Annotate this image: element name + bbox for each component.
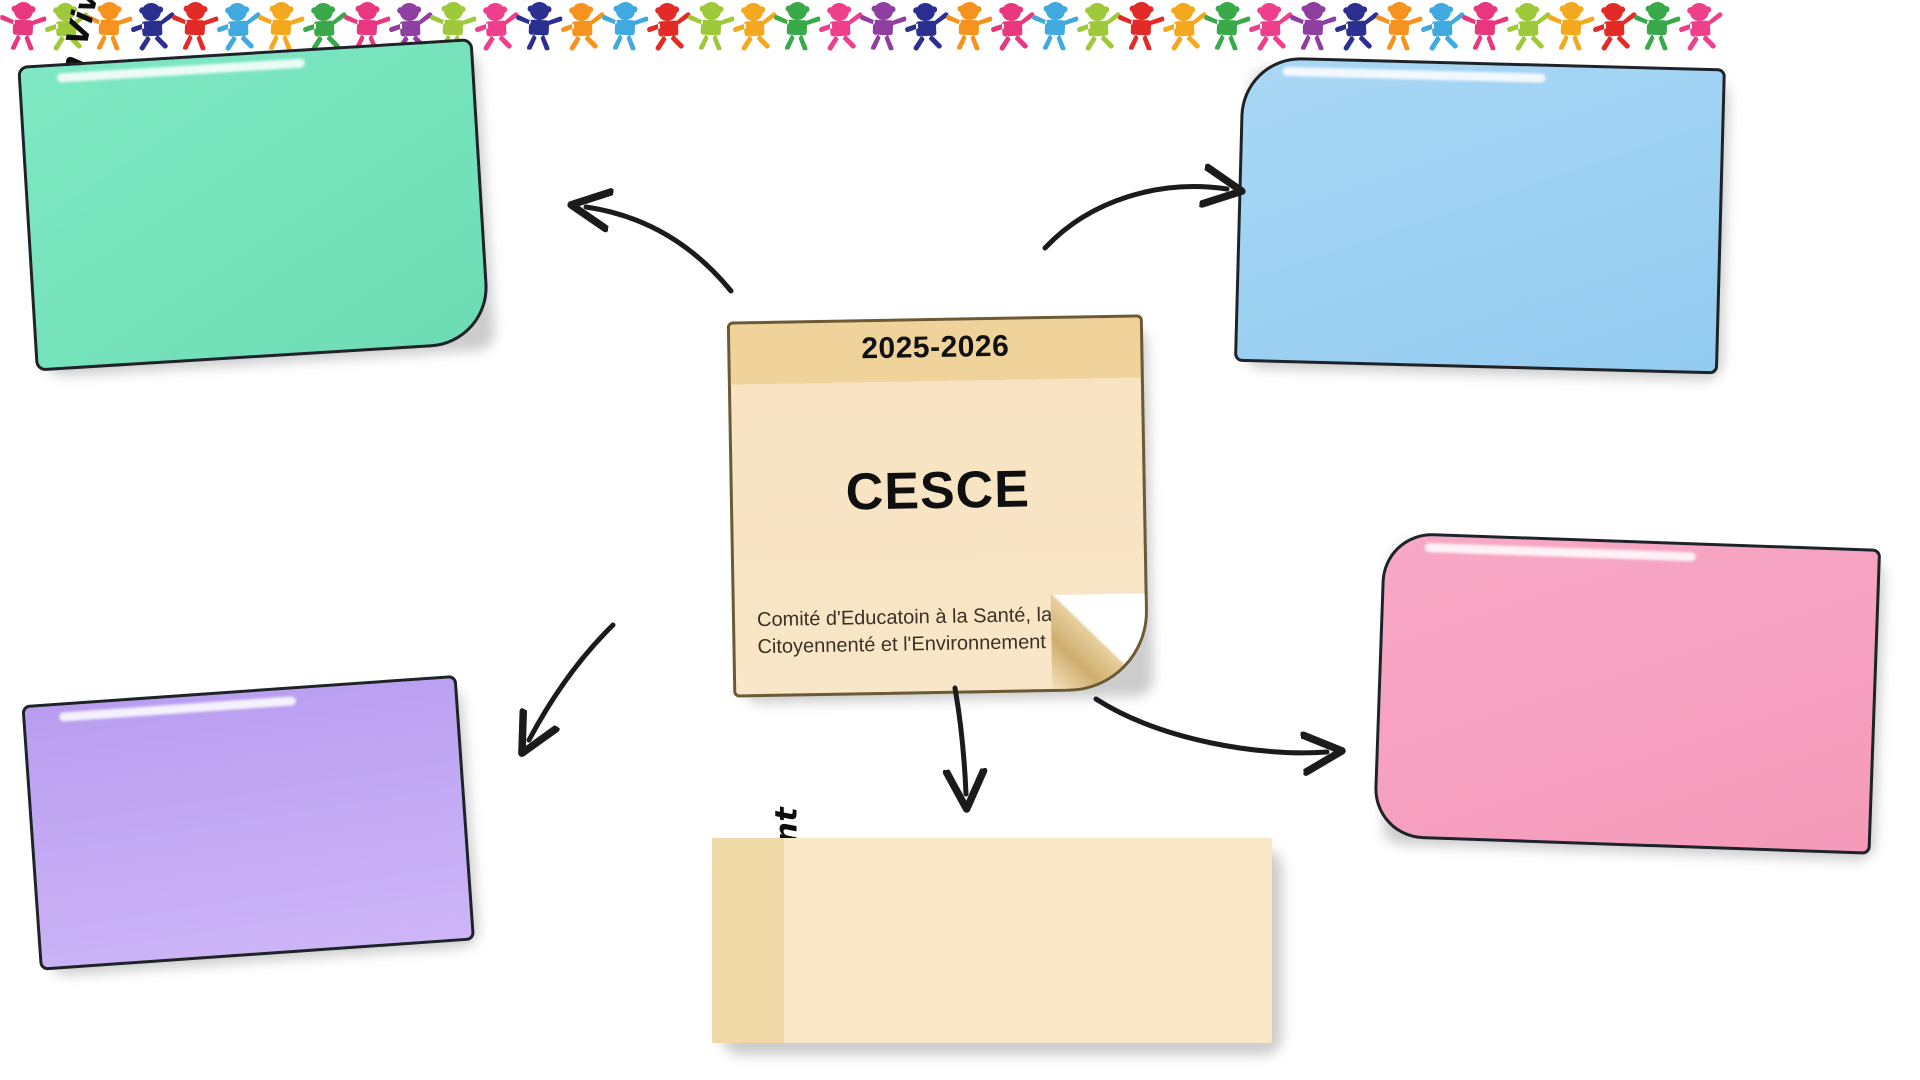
dancing-child-figure — [300, 0, 349, 52]
card-engagement[interactable]: Engagement ❖ Être solidaire ❖ Participer… — [712, 838, 1272, 1043]
dancing-child-figure — [558, 0, 607, 52]
dancing-child-figure — [1031, 0, 1079, 51]
card-bien-vivre-ensemble[interactable]: Bien Vivre ensemble ❖ Protéger ❖ Dévelop… — [17, 39, 484, 366]
card-formation-citoyenne[interactable]: Formation citoyenne ❖ Connaître ses droi… — [1234, 56, 1720, 368]
dancing-child-figure — [1074, 0, 1123, 52]
dancing-child-figure — [1117, 0, 1165, 51]
mindmap-canvas: Bien Vivre ensemble ❖ Protéger ❖ Dévelop… — [0, 0, 1920, 1080]
dancing-child-figure — [859, 0, 907, 51]
gloss-highlight — [1283, 67, 1546, 83]
dancing-child-figure — [988, 0, 1037, 52]
dancing-child-figure — [1160, 0, 1209, 52]
dancing-child-figure — [1418, 0, 1467, 52]
gloss-highlight — [59, 696, 296, 721]
dancing-child-figure — [687, 0, 735, 51]
dancing-child-figure — [1461, 0, 1509, 51]
dancing-child-figure — [601, 0, 649, 51]
arrow-to-purple — [529, 625, 613, 740]
card-ouverture[interactable]: Ouverture ❖ Culturelle ❖ L'ambition pour… — [21, 675, 468, 964]
school-year-label: 2025-2026 — [730, 327, 1141, 368]
card-cesce-center[interactable]: 2025-2026 CESCE Comité d'Educatoin à la … — [727, 314, 1143, 691]
arrow-to-blue — [1045, 187, 1227, 248]
dancing-child-figure — [128, 0, 177, 52]
dancing-child-figure — [1203, 0, 1251, 51]
card-surface: 2025-2026 CESCE Comité d'Educatoin à la … — [727, 314, 1149, 697]
gloss-highlight — [57, 59, 305, 83]
cesce-full-name: Comité d'Educatoin à la Santé, la Citoye… — [757, 601, 1098, 660]
dancing-child-figure — [902, 0, 951, 52]
dancing-child-figure — [1676, 0, 1725, 52]
dancing-child-figure — [1633, 0, 1681, 51]
dancing-child-figure — [1504, 0, 1553, 52]
dancing-child-figure — [644, 0, 693, 52]
card-surface — [1234, 56, 1726, 375]
dancing-child-figure — [1547, 0, 1595, 51]
card-spine — [712, 838, 784, 1043]
dancing-child-figure — [171, 0, 219, 51]
dancing-child-figure — [1289, 0, 1337, 51]
dancing-child-figure — [257, 0, 305, 51]
dancing-child-figure — [945, 0, 993, 51]
page-curl-corner — [1051, 593, 1149, 691]
card-surface — [712, 838, 1272, 1043]
dancing-child-figure — [515, 0, 563, 51]
arrow-to-pink — [1096, 699, 1327, 753]
dancing-child-figure — [1590, 0, 1639, 52]
dancing-child-figure — [0, 0, 47, 51]
dancing-child-figure — [773, 0, 821, 51]
dancing-child-figure — [1246, 0, 1295, 52]
card-surface — [21, 675, 474, 971]
card-surface — [17, 38, 491, 371]
dancing-children-border — [0, 0, 1920, 52]
card-vie-affective-et-sante[interactable]: Vie affective et Santé ❖ Se connaître so… — [1373, 532, 1875, 849]
card-surface — [1373, 532, 1881, 855]
gloss-highlight — [1425, 543, 1696, 561]
dancing-child-figure — [472, 0, 521, 52]
dancing-child-figure — [730, 0, 779, 52]
dancing-child-figure — [1332, 0, 1381, 52]
arrow-to-green — [586, 207, 731, 291]
dancing-child-figure — [214, 0, 263, 52]
dancing-child-figure — [1375, 0, 1423, 51]
arrow-to-engagement — [955, 688, 966, 794]
page-title: CESCE — [732, 457, 1143, 524]
dancing-child-figure — [816, 0, 865, 52]
